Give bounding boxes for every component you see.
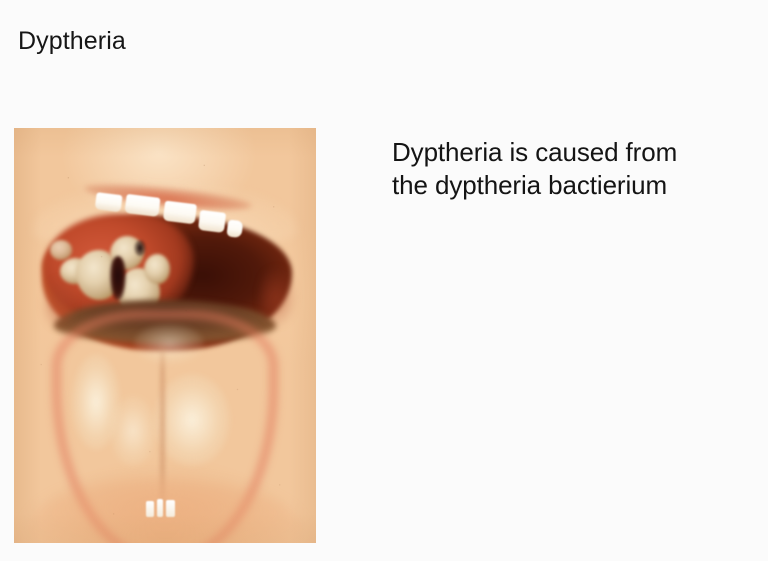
page-title: Dyptheria — [18, 26, 126, 56]
body-text-line-2: the dyptheria bactierium — [392, 169, 742, 202]
presentation-slide: Dyptheria — [0, 0, 768, 561]
body-text-block: Dyptheria is caused from the dyptheria b… — [392, 136, 742, 202]
body-text-line-1: Dyptheria is caused from — [392, 136, 742, 169]
clinical-photo — [14, 128, 316, 543]
photo-vignette — [14, 128, 316, 543]
